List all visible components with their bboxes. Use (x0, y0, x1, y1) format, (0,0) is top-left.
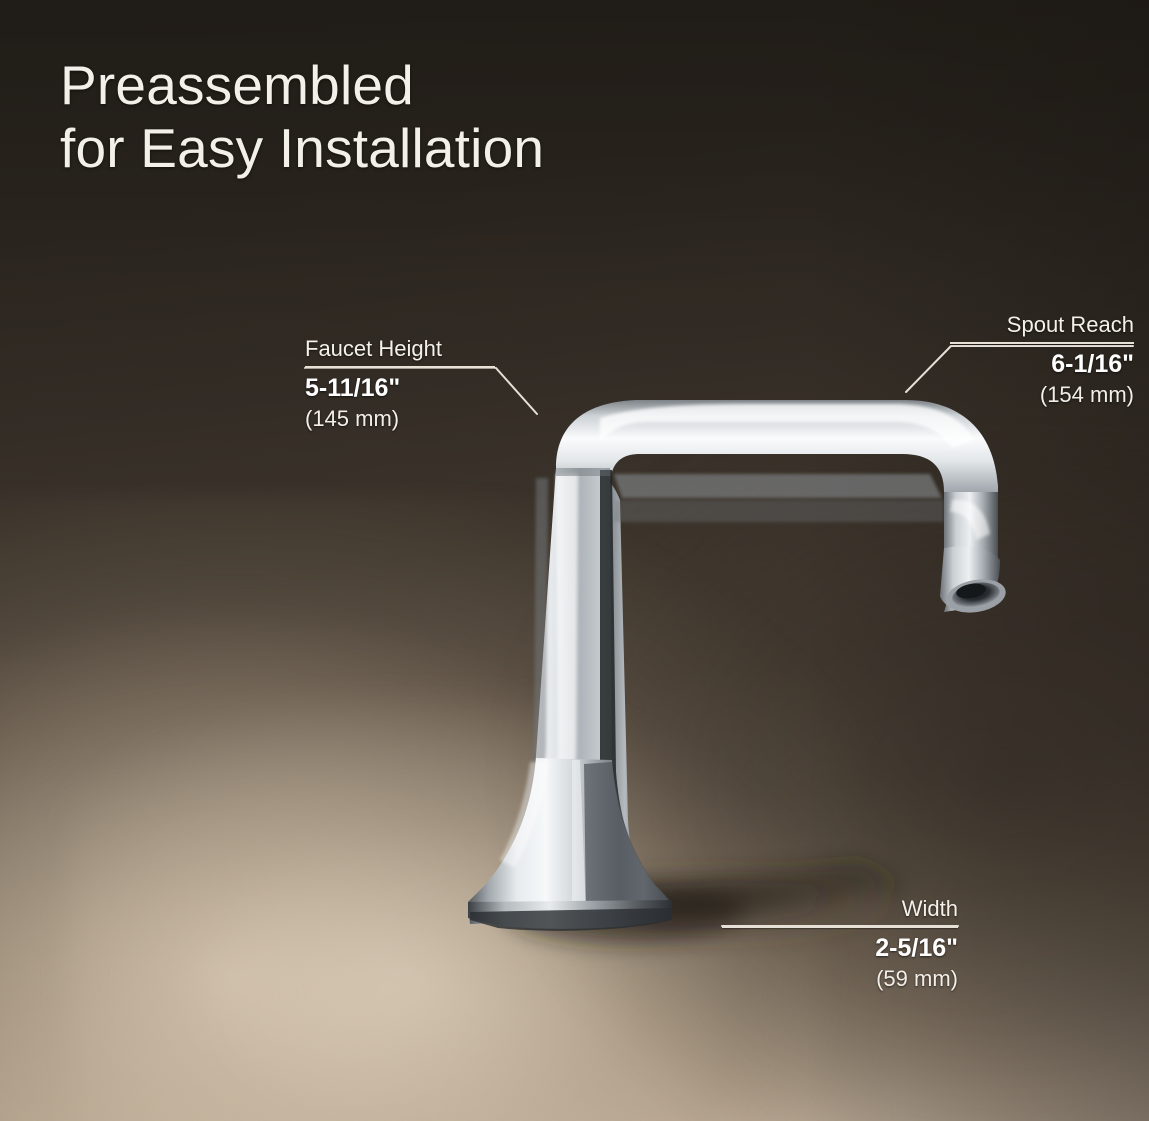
product-image-canvas: Preassembled for Easy Installation Fauce… (0, 0, 1149, 1121)
headline: Preassembled for Easy Installation (60, 54, 544, 179)
callout-width-metric: (59 mm) (722, 965, 958, 993)
callout-width: Width 2-5/16" (59 mm) (722, 896, 958, 992)
callout-faucet-height-value: 5-11/16" (305, 373, 495, 404)
callout-width-value: 2-5/16" (722, 933, 958, 964)
callout-spout-reach-rule (950, 342, 1134, 344)
callout-spout-reach-value: 6-1/16" (950, 349, 1134, 380)
headline-line-1: Preassembled (60, 54, 414, 116)
callout-width-rule (722, 926, 958, 928)
callout-faucet-height: Faucet Height 5-11/16" (145 mm) (305, 336, 495, 432)
callout-spout-reach-title: Spout Reach (950, 312, 1134, 338)
callout-faucet-height-metric: (145 mm) (305, 405, 495, 433)
callout-spout-reach: Spout Reach 6-1/16" (154 mm) (950, 312, 1134, 408)
callout-width-title: Width (722, 896, 958, 922)
callout-spout-reach-metric: (154 mm) (950, 381, 1134, 409)
callout-faucet-height-rule (305, 366, 495, 368)
callout-faucet-height-title: Faucet Height (305, 336, 495, 362)
headline-line-2: for Easy Installation (60, 117, 544, 179)
